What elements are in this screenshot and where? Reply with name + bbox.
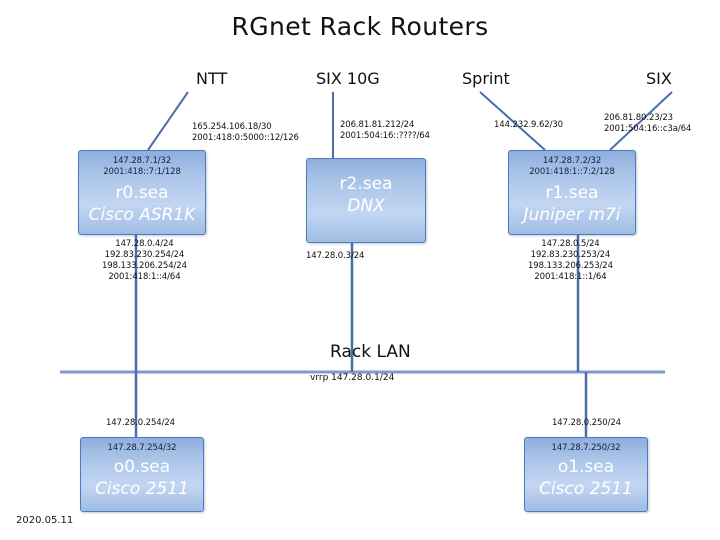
peer-label-ntt: NTT (196, 69, 227, 88)
router-r0-loopbacks: 147.28.7.1/32 2001:418::7:1/128 (103, 156, 181, 178)
lan-address-r0: 147.28.0.4/24 192.83.230.254/24 198.133.… (102, 239, 187, 283)
peer-label-six-10g: SIX 10G (316, 69, 380, 88)
router-r2-names: r2.sea DNX (340, 173, 393, 217)
router-r0-names: r0.sea Cisco ASR1K (89, 182, 196, 226)
router-r0-loopback-v6: 2001:418::7:1/128 (103, 167, 181, 178)
console-o0-loopbacks: 147.28.7.254/32 (108, 443, 177, 454)
rack-lan-vrrp-address: vrrp 147.28.0.1/24 (310, 373, 394, 383)
router-node-r1[interactable]: 147.28.7.2/32 2001:418:1::7:2/128 r1.sea… (508, 150, 636, 235)
lan-address-o0: 147.28.0.254/24 (106, 418, 175, 429)
router-r0-model: Cisco ASR1K (89, 204, 196, 226)
console-o1-hostname: o1.sea (539, 456, 633, 478)
router-r1-names: r1.sea Juniper m7i (523, 182, 620, 226)
router-r0-hostname: r0.sea (89, 182, 196, 204)
console-o1-loopback-v4: 147.28.7.250/32 (552, 443, 621, 454)
peer-label-sprint: Sprint (462, 69, 510, 88)
router-r1-loopbacks: 147.28.7.2/32 2001:418:1::7:2/128 (529, 156, 615, 178)
page-title: RGnet Rack Routers (0, 12, 720, 41)
lan-address-o1: 147.28.0.250/24 (552, 418, 621, 429)
link-address-six: 206.81.80.23/23 2001:504:16::c3a/64 (604, 113, 691, 135)
router-r1-model: Juniper m7i (523, 204, 620, 226)
router-r0-loopback-v4: 147.28.7.1/32 (103, 156, 181, 167)
router-r1-loopback-v6: 2001:418:1::7:2/128 (529, 167, 615, 178)
router-r1-loopback-v4: 147.28.7.2/32 (529, 156, 615, 167)
lan-address-r2: 147.28.0.3/24 (306, 251, 364, 262)
diagram-canvas: RGnet Rack Routers NTT SIX 10G Sprint SI… (0, 0, 720, 540)
console-o0-loopback-v4: 147.28.7.254/32 (108, 443, 177, 454)
link-address-sprint: 144.232.9.62/30 (494, 120, 563, 131)
link-address-ntt: 165.254.106.18/30 2001:418:0:5000::12/12… (192, 122, 299, 144)
link-ntt-r0 (148, 92, 188, 150)
console-o0-names: o0.sea Cisco 2511 (95, 456, 189, 500)
router-node-r2[interactable]: r2.sea DNX (306, 158, 426, 243)
router-node-r0[interactable]: 147.28.7.1/32 2001:418::7:1/128 r0.sea C… (78, 150, 206, 235)
console-o0-model: Cisco 2511 (95, 478, 189, 500)
router-r2-model: DNX (340, 195, 393, 217)
console-o1-model: Cisco 2511 (539, 478, 633, 500)
lan-address-r1: 147.28.0.5/24 192.83.230.253/24 198.133.… (528, 239, 613, 283)
console-o1-loopbacks: 147.28.7.250/32 (552, 443, 621, 454)
console-node-o1[interactable]: 147.28.7.250/32 o1.sea Cisco 2511 (524, 437, 648, 512)
date-stamp: 2020.05.11 (16, 515, 73, 526)
peer-label-six: SIX (646, 69, 672, 88)
rack-lan-label: Rack LAN (330, 342, 411, 362)
console-o0-hostname: o0.sea (95, 456, 189, 478)
router-r1-hostname: r1.sea (523, 182, 620, 204)
console-o1-names: o1.sea Cisco 2511 (539, 456, 633, 500)
link-address-six-10g: 206.81.81.212/24 2001:504:16::????/64 (340, 120, 430, 142)
router-r2-hostname: r2.sea (340, 173, 393, 195)
console-node-o0[interactable]: 147.28.7.254/32 o0.sea Cisco 2511 (80, 437, 204, 512)
